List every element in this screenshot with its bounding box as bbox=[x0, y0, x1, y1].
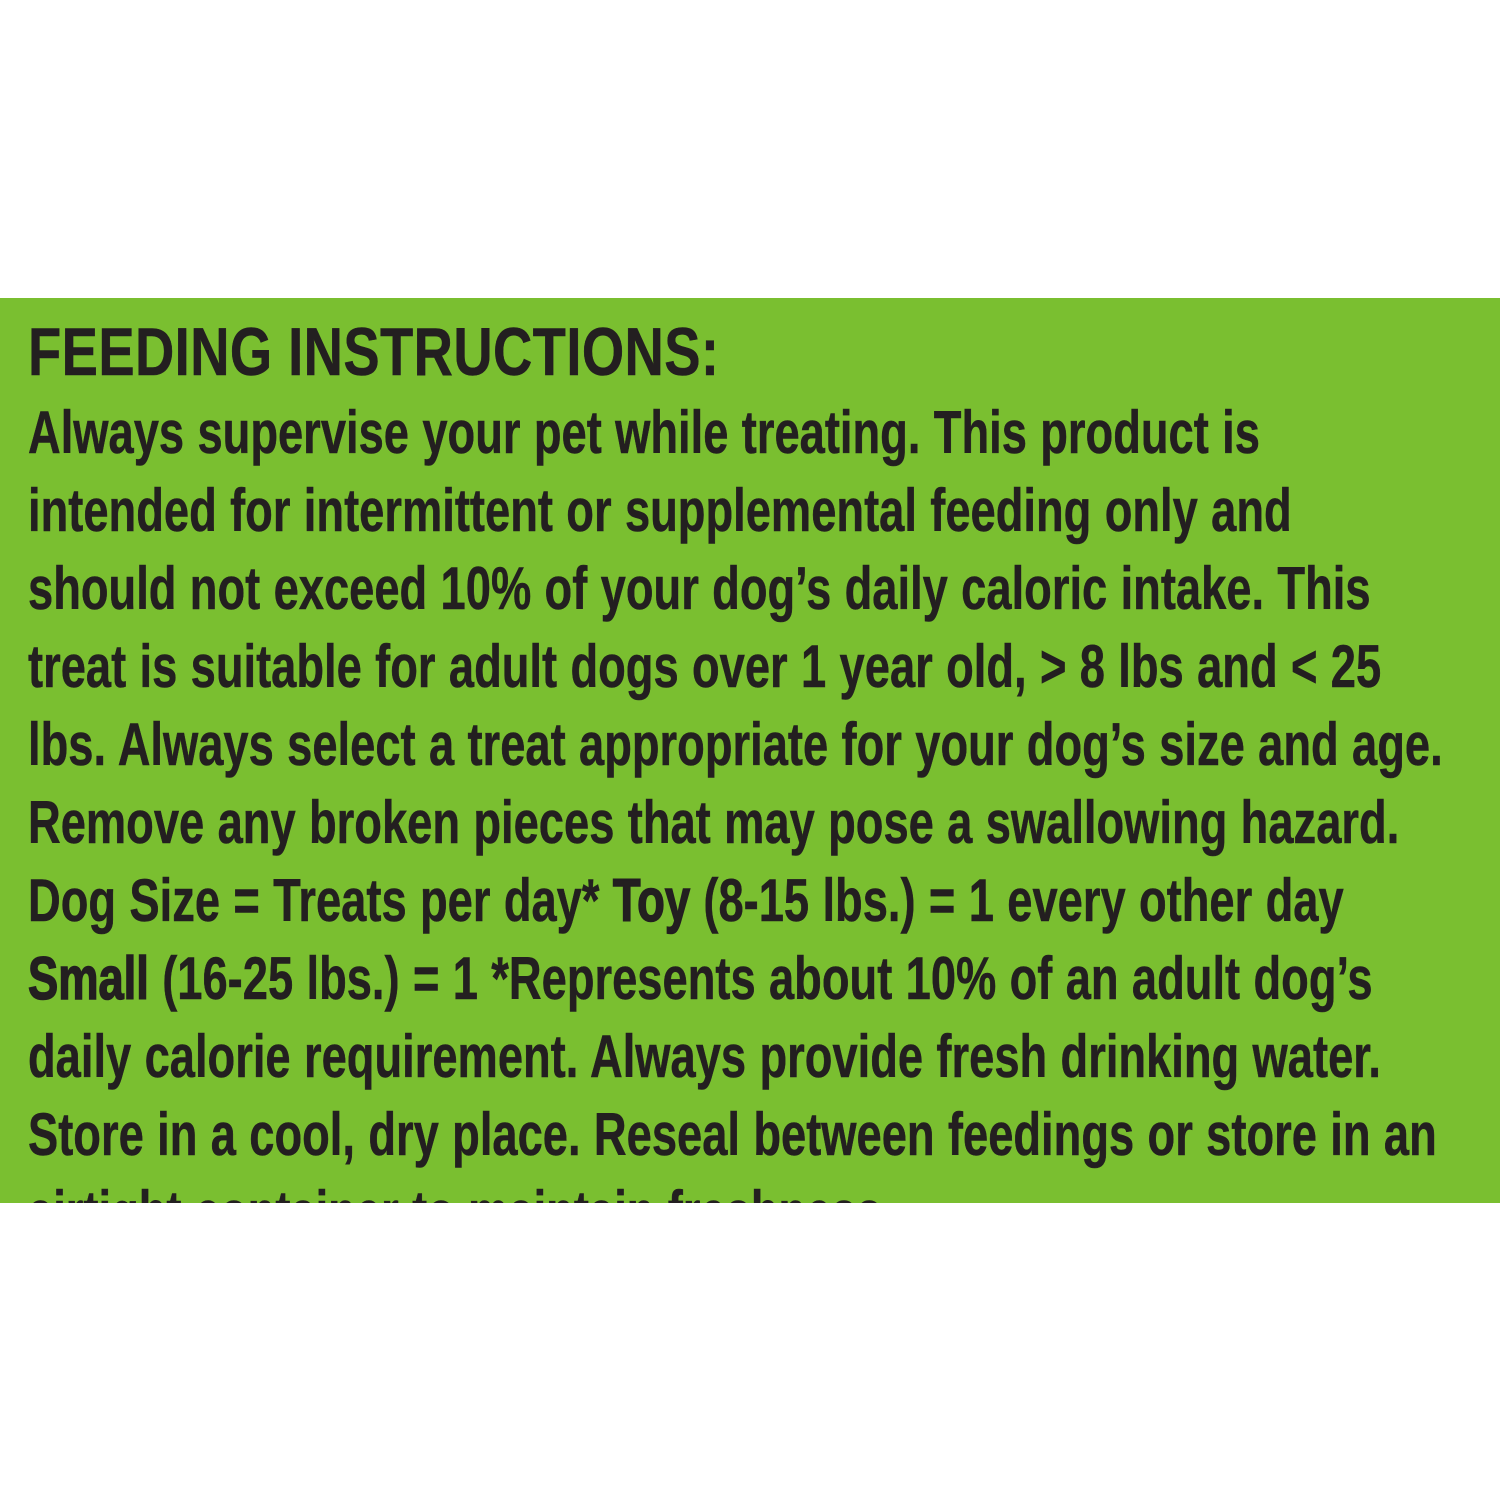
feeding-instructions-heading: FEEDING INSTRUCTIONS: bbox=[28, 316, 1164, 388]
dog-size-emphasis: Toy bbox=[613, 867, 690, 934]
feeding-instructions-panel: FEEDING INSTRUCTIONS: Always supervise y… bbox=[0, 298, 1500, 1203]
feeding-instructions-body: Always supervise your pet while treating… bbox=[28, 394, 1447, 1252]
panel-content: FEEDING INSTRUCTIONS: Always supervise y… bbox=[28, 316, 1448, 1252]
body-text-run: (8-15 lbs.) = 1 every other day bbox=[690, 867, 1344, 934]
product-label-panel: FEEDING INSTRUCTIONS: Always supervise y… bbox=[0, 0, 1500, 1500]
body-text-run: Always supervise your pet while treating… bbox=[28, 399, 1443, 934]
body-text-run: (16-25 lbs.) = 1 *Represents about 10% o… bbox=[28, 945, 1437, 1246]
bottom-white-margin bbox=[0, 1203, 1500, 1500]
top-white-margin bbox=[0, 0, 1500, 298]
dog-size-emphasis: Small bbox=[28, 945, 149, 1012]
